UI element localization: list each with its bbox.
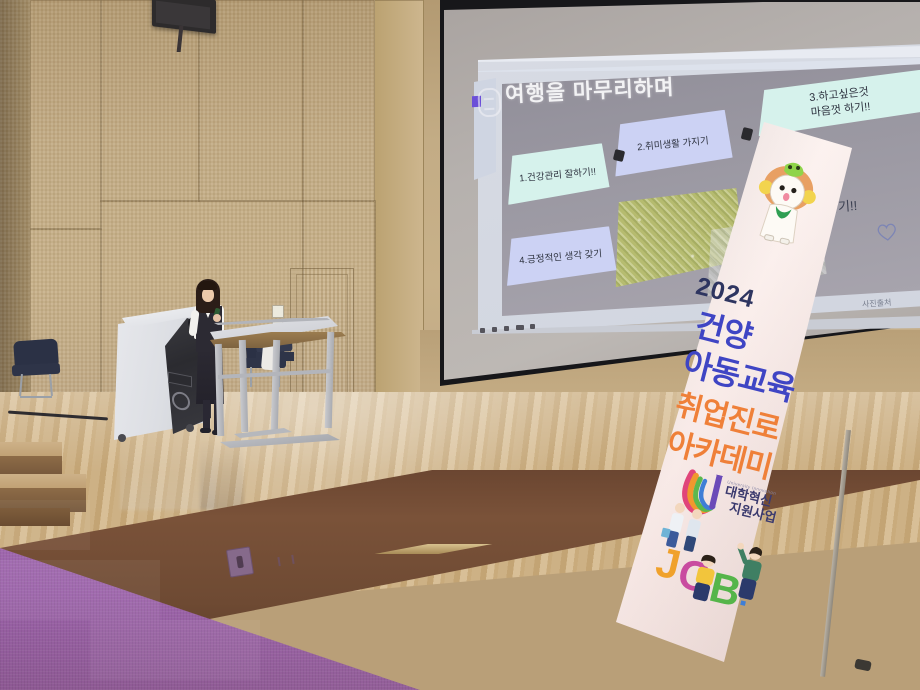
banner-stand-foot [854,658,872,671]
wall-outlet[interactable] [226,546,254,577]
taskbar-icon[interactable] [480,328,485,333]
carpet-tile [90,620,260,680]
wall-pillar [374,0,424,432]
slide-card-3-label: 3.하고싶은것 마음껏 하기!! [809,85,872,121]
slide-card-4-label: 4.긍정적인 생각 갖기 [519,245,603,266]
chair-rail [20,396,52,398]
cabinet-caster [186,424,194,432]
stage-step-face [0,508,70,526]
presenter-leg [203,400,210,430]
carpet-tile [0,560,160,620]
lecture-hall-photo: 여행을 마무리하며 1.건강관리 잘하기!! 2.취미생활 가지기 3.하고싶은… [0,0,920,690]
cabinet-caster [118,434,126,442]
taskbar-icon[interactable] [504,326,509,331]
taskbar-icon[interactable] [530,324,535,329]
presenter-face [202,288,214,302]
slide-credit-text: 사진출처 [862,297,892,310]
presenter-hair-front [198,281,217,290]
presenter-reflection [200,440,244,510]
heart-doodle-icon [875,221,899,243]
presenter-hand [213,314,221,322]
slide-card-1-label: 1.건강관리 잘하기!! [519,164,597,185]
wall-panel [30,0,102,230]
taskbar-icon[interactable] [492,327,497,332]
slide-card-2-label: 2.취미생활 가지기 [637,133,710,154]
presenter-shoe [200,428,211,433]
person-figure-green-icon [723,537,784,607]
taskbar-icon[interactable] [516,325,524,330]
wall-panel [100,0,200,202]
wall-panel [302,0,376,202]
slide-title-bullet-icon [477,87,501,117]
light-switch[interactable] [272,305,284,318]
